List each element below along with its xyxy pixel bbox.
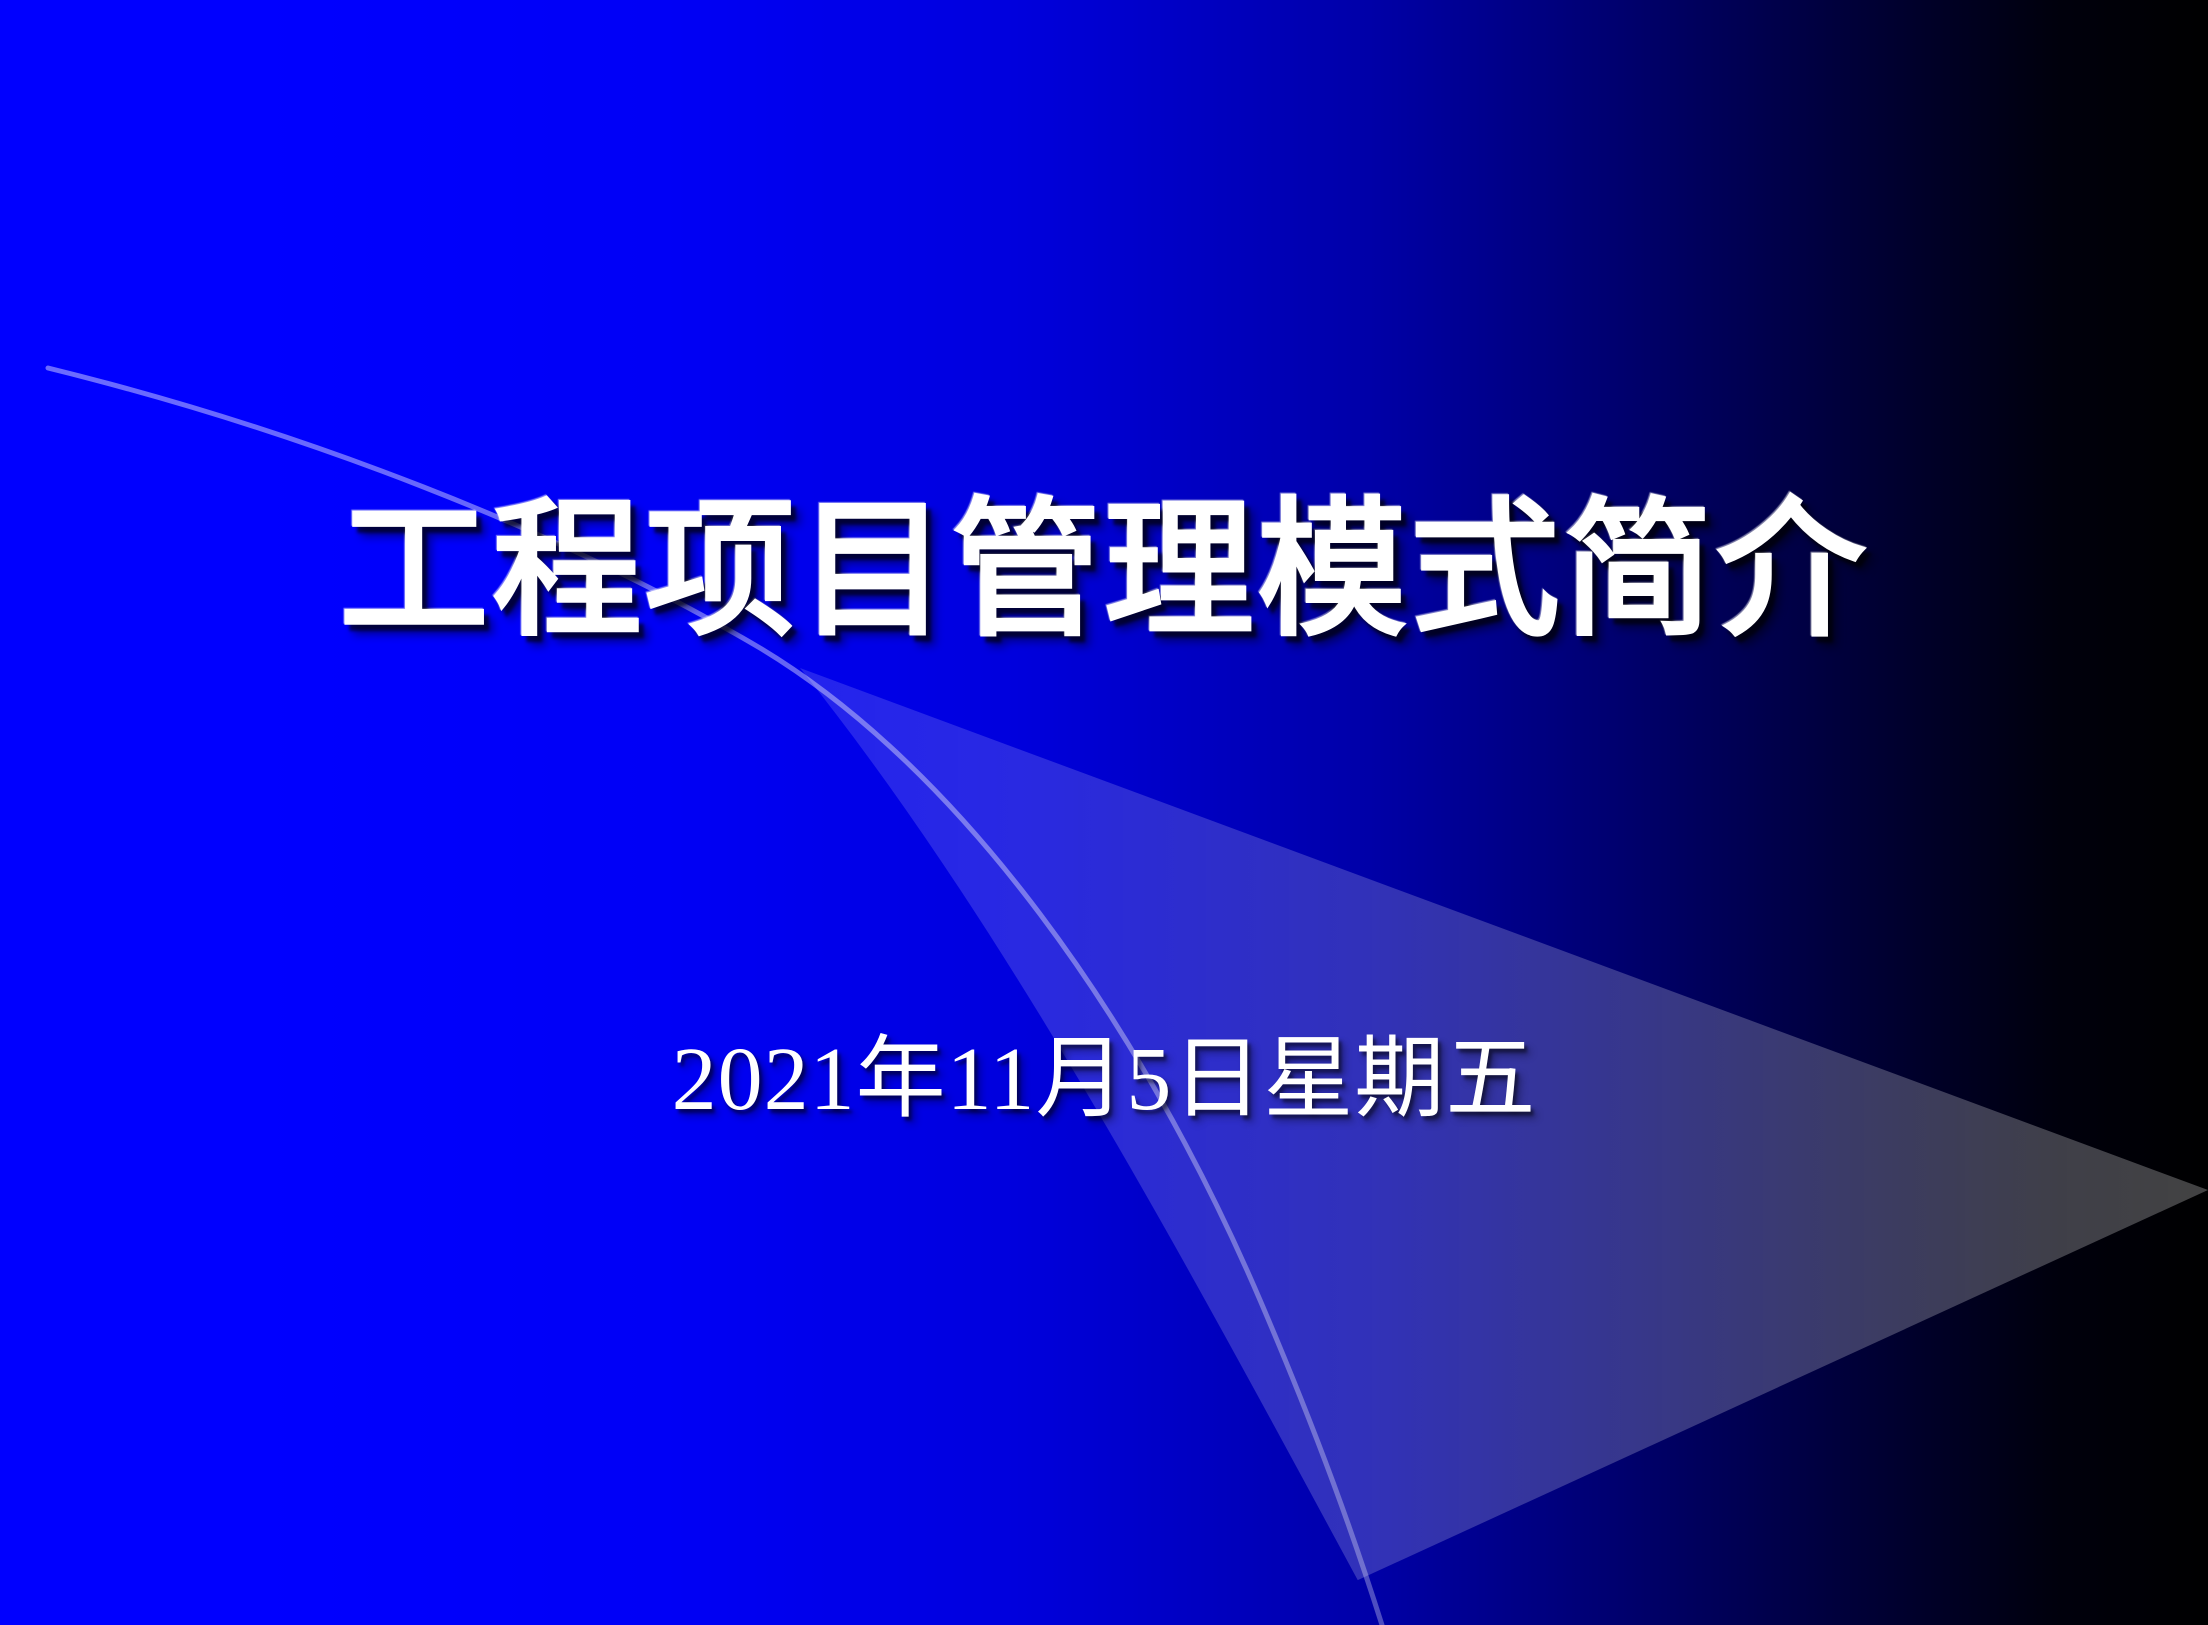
slide-subtitle-date-text: 2021年11月5日星期五 bbox=[672, 1035, 1537, 1125]
presentation-slide: 工程项目管理模式简介 2021年11月5日星期五 bbox=[0, 0, 2208, 1625]
slide-title: 工程项目管理模式简介 bbox=[0, 497, 2208, 647]
slide-decoration-artwork bbox=[0, 0, 2208, 1625]
slide-title-text: 工程项目管理模式简介 bbox=[339, 497, 1869, 647]
swoosh-wedge-shape bbox=[800, 668, 2208, 1625]
slide-subtitle: 2021年11月5日星期五 bbox=[0, 1035, 2208, 1125]
